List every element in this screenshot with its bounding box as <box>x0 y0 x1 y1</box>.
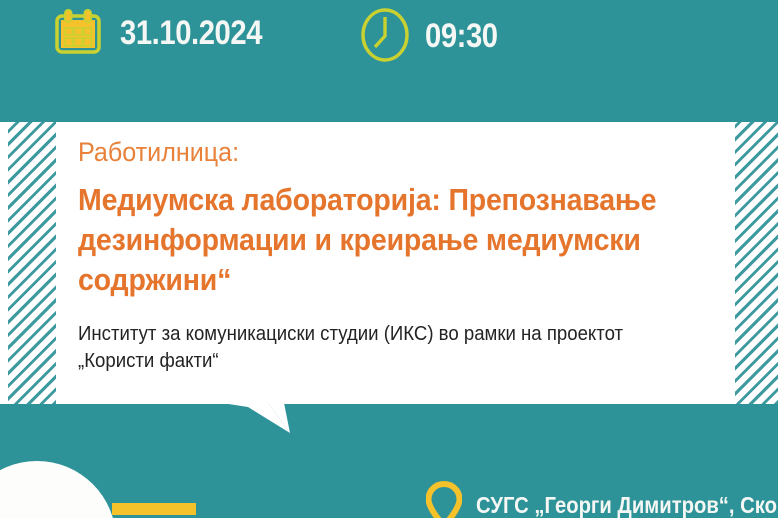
logo-yellow-bar <box>112 503 196 515</box>
time-group: 09:30 <box>359 6 509 64</box>
venue-name: СУГС „Георги Димитров“, Скопје <box>476 494 778 517</box>
logo-circle-decoration <box>0 461 116 518</box>
diagonal-stripe-decoration-left <box>8 122 56 404</box>
event-time: 09:30 <box>425 19 498 53</box>
event-date: 31.10.2024 <box>120 16 262 50</box>
location-pin-icon <box>426 481 462 518</box>
event-meta-header: 31.10.2024 09:30 <box>0 0 778 110</box>
event-info-card: Работилница: Медиумска лабораторија: Пре… <box>0 122 778 404</box>
clock-icon <box>359 6 411 64</box>
card-content: Работилница: Медиумска лабораторија: Пре… <box>78 138 718 375</box>
diagonal-stripe-decoration-right <box>735 122 778 404</box>
speech-bubble-tail <box>222 403 294 433</box>
calendar-icon <box>52 6 104 58</box>
event-title: Медиумска лабораторија: Препознавање дез… <box>78 180 667 299</box>
date-group: 31.10.2024 <box>52 6 285 58</box>
event-organizer: Институт за комуникациски студии (ИКС) в… <box>78 321 673 375</box>
venue-group: СУГС „Георги Димитров“, Скопје <box>426 481 778 518</box>
event-type-label: Работилница: <box>78 138 673 166</box>
